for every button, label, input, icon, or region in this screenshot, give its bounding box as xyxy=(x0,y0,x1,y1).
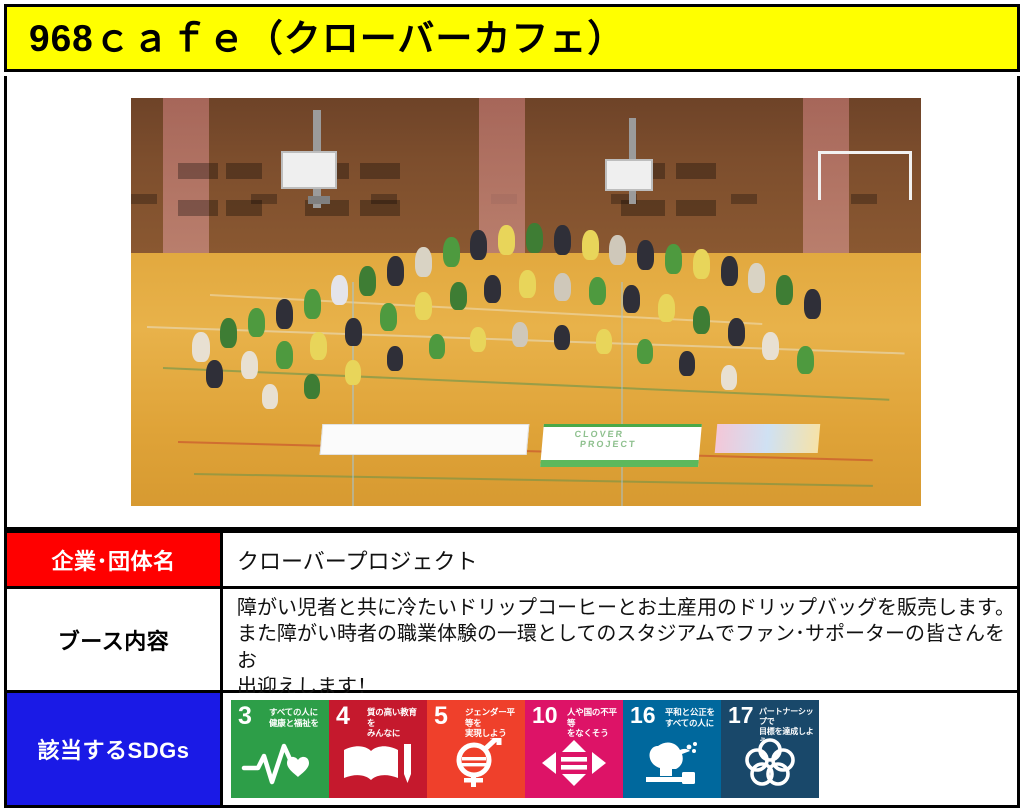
sdg-caption-3-line1: すべての人に xyxy=(269,707,325,718)
sdg-number-17: 17 xyxy=(728,704,754,727)
banner-text-line2: PROJECT xyxy=(579,440,636,449)
photo-frame: CLOVER PROJECT クローバーフェスティバル xyxy=(4,76,1020,530)
sdg-caption-10-line1: 人や国の不平等 xyxy=(567,707,619,728)
basketball-hoop-left xyxy=(281,151,337,189)
sponsor-banner-right xyxy=(714,424,819,453)
sdg-caption-17-line1: パートナーシップで xyxy=(759,707,815,727)
sdg-number-4: 4 xyxy=(336,704,350,729)
sdg-caption-16-line1: 平和と公正を xyxy=(665,707,717,718)
info-table: 企業･団体名 クローバープロジェクト ブース内容 障がい児者と共に冷たいドリップ… xyxy=(4,530,1020,808)
row-value-booth-content: 障がい児者と共に冷たいドリップコーヒーとお土産用のドリップバッグを販売します。 … xyxy=(223,589,1017,690)
row-label-sdgs: 該当するSDGs xyxy=(7,693,223,805)
interlocking-circles-icon xyxy=(721,738,819,792)
sdg-icon-list: 3 すべての人に 健康と福祉を xyxy=(227,700,819,798)
sdg-icon-5: 5 ジェンダー平等を 実現しよう xyxy=(427,700,525,798)
sdg-number-10: 10 xyxy=(532,704,558,727)
sdg-caption-3-line2: 健康と福祉を xyxy=(269,718,325,729)
row-value-sdgs: 3 すべての人に 健康と福祉を xyxy=(223,693,1017,805)
page-title: 968ｃａｆｅ（クローバーカフェ） xyxy=(7,20,625,57)
sdg-icon-3: 3 すべての人に 健康と福祉を xyxy=(231,700,329,798)
sdg-caption-5: ジェンダー平等を 実現しよう xyxy=(465,707,521,739)
table-row-organization: 企業･団体名 クローバープロジェクト xyxy=(7,533,1017,589)
sdg-caption-10: 人や国の不平等 をなくそう xyxy=(567,707,619,739)
row-label-organization: 企業･団体名 xyxy=(7,533,223,586)
basketball-hoop-right xyxy=(605,159,653,191)
table-row-sdgs: 該当するSDGs 3 すべての人に 健康と福祉を xyxy=(7,693,1017,805)
sdg-caption-4: 質の高い教育を みんなに xyxy=(367,707,423,739)
sdg-number-16: 16 xyxy=(630,704,656,727)
open-book-pencil-icon xyxy=(329,738,427,792)
group-photo: CLOVER PROJECT クローバーフェスティバル xyxy=(131,98,921,506)
sdg-icon-4: 4 質の高い教育を みんなに xyxy=(329,700,427,798)
booth-description: 障がい児者と共に冷たいドリップコーヒーとお土産用のドリップバッグを販売します。 … xyxy=(237,595,1017,701)
heartbeat-heart-icon xyxy=(231,738,329,792)
sdg-caption-3: すべての人に 健康と福祉を xyxy=(269,707,325,728)
sdg-icon-16: 16 平和と公正を すべての人に xyxy=(623,700,721,798)
sdg-caption-4-line1: 質の高い教育を xyxy=(367,707,423,728)
row-value-organization: クローバープロジェクト xyxy=(223,533,1017,586)
sponsor-banner-left xyxy=(319,424,529,455)
booth-description-line-1: 障がい児者と共に冷たいドリップコーヒーとお土産用のドリップバッグを販売します。 xyxy=(237,595,1017,621)
slide-page: 968ｃａｆｅ（クローバーカフェ） xyxy=(0,0,1024,812)
sdg-icon-17: 17 パートナーシップで 目標を達成しよう xyxy=(721,700,819,798)
table-row-booth-content: ブース内容 障がい児者と共に冷たいドリップコーヒーとお土産用のドリップバッグを販… xyxy=(7,589,1017,693)
sdg-caption-16-line2: すべての人に xyxy=(665,718,717,729)
page-title-banner: 968ｃａｆｅ（クローバーカフェ） xyxy=(4,4,1020,72)
sdg-caption-5-line1: ジェンダー平等を xyxy=(465,707,521,728)
crowd-of-people xyxy=(178,204,873,441)
sdg-number-3: 3 xyxy=(238,704,252,729)
dove-gavel-icon xyxy=(623,738,721,792)
banner-text-line3: クローバーフェスティバル xyxy=(563,451,659,458)
sdg-number-5: 5 xyxy=(434,704,448,729)
clover-project-banner: CLOVER PROJECT クローバーフェスティバル xyxy=(540,424,702,467)
row-label-booth-content: ブース内容 xyxy=(7,589,223,690)
four-arrows-equals-icon xyxy=(525,738,623,792)
sdg-icon-10: 10 人や国の不平等 をなくそう xyxy=(525,700,623,798)
sdg-caption-16: 平和と公正を すべての人に xyxy=(665,707,717,728)
banner-text-line1: CLOVER xyxy=(574,430,624,439)
handball-goal xyxy=(818,151,912,200)
gender-equality-icon xyxy=(427,738,525,792)
booth-description-line-2: また障がい時者の職業体験の一環としてのスタジアムでファン･サポーターの皆さんをお xyxy=(237,621,1017,674)
organization-name: クローバープロジェクト xyxy=(237,544,477,576)
